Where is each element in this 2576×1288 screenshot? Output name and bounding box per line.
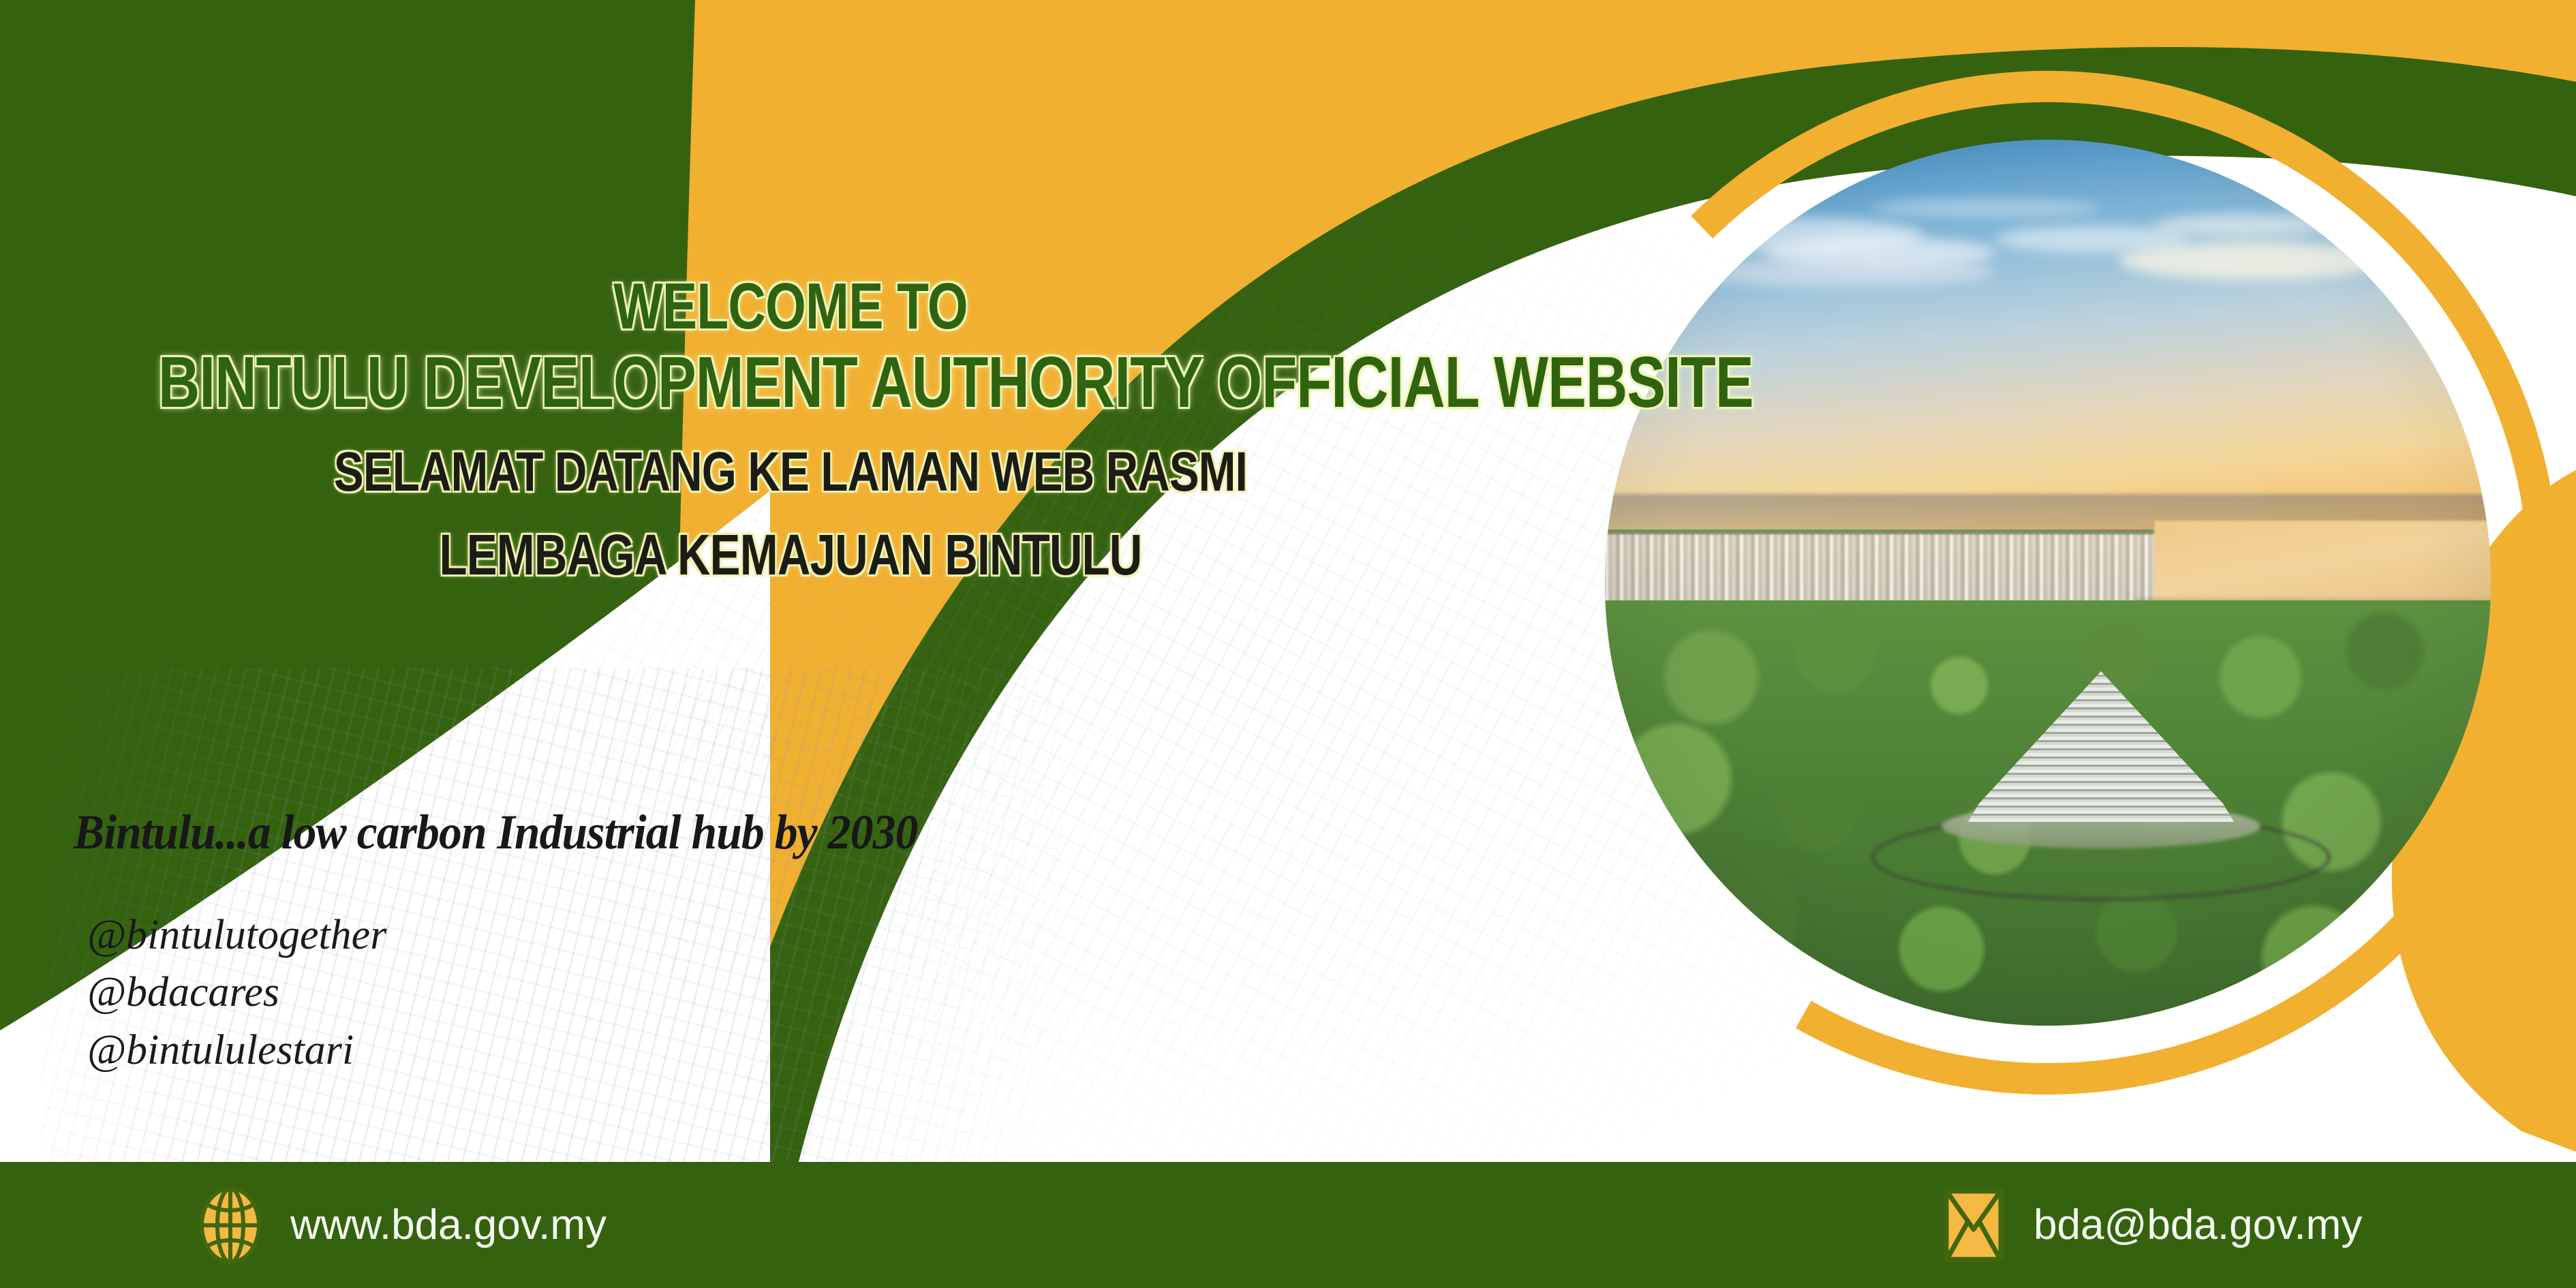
handle-bintulutogether: @bintulutogether	[87, 906, 386, 964]
globe-icon	[199, 1185, 262, 1266]
tagline: Bintulu...a low carbon Industrial hub by…	[74, 804, 917, 861]
headline-title-ms: LEMBAGA KEMAJUAN BINTULU	[158, 525, 1423, 585]
headline-title-en: BINTULU DEVELOPMENT AUTHORITY OFFICIAL W…	[158, 345, 1423, 420]
social-handles: @bintulutogether @bdacares @bintululesta…	[87, 906, 386, 1079]
headline-welcome-ms: SELAMAT DATANG KE LAMAN WEB RASMI	[158, 443, 1423, 501]
footer-bar: www.bda.gov.my bda@bda.gov.my	[0, 1162, 2576, 1288]
hero-photo	[1605, 140, 2491, 1026]
headline-welcome: WELCOME TO	[158, 273, 1423, 341]
envelope-icon	[1942, 1187, 2005, 1263]
footer-website[interactable]: www.bda.gov.my	[199, 1185, 607, 1266]
photo-vignette	[1605, 140, 2491, 1026]
hero-photo-circle	[1605, 140, 2491, 1026]
bda-welcome-banner: WELCOME TO BINTULU DEVELOPMENT AUTHORITY…	[0, 0, 2576, 1288]
handle-bintululestari: @bintululestari	[87, 1022, 386, 1079]
website-url[interactable]: www.bda.gov.my	[290, 1201, 607, 1249]
footer-email[interactable]: bda@bda.gov.my	[1942, 1187, 2362, 1263]
handle-bdacares: @bdacares	[87, 964, 386, 1021]
email-address[interactable]: bda@bda.gov.my	[2034, 1201, 2362, 1249]
headline-block: WELCOME TO BINTULU DEVELOPMENT AUTHORITY…	[0, 273, 1581, 585]
